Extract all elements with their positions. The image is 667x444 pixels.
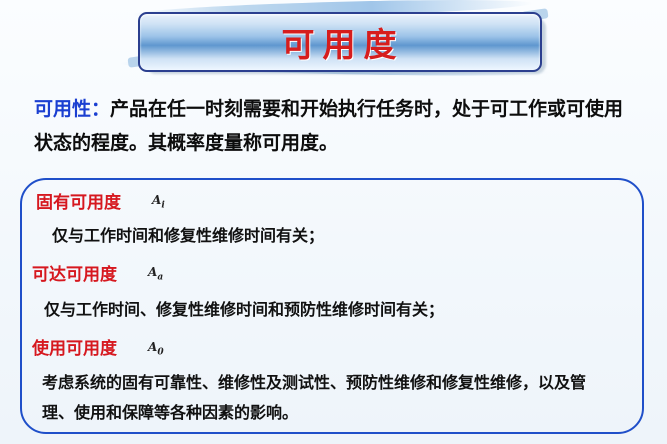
definition-colon: ： (91, 98, 110, 120)
item-2-symbol-letter: A (148, 265, 157, 279)
item-3-symbol-subscript: 0 (157, 347, 163, 357)
item-2-description: 仅与工作时间、修复性维修时间和预防性维修时间有关； (44, 296, 444, 320)
page-title: 可用度 (276, 18, 405, 66)
item-2-heading: 可达可用度 (32, 260, 117, 285)
slide-canvas: 可用度 可用性：产品在任一时刻需要和开始执行任务时，处于可工作或可使用状态的程度… (0, 0, 667, 444)
item-3-description: 考虑系统的固有可靠性、维修性及测试性、预防性维修和修复性维修，以及管理、使用和保… (42, 368, 617, 428)
item-3-heading: 使用可用度 (32, 334, 117, 359)
item-1-symbol-subscript: i (161, 200, 164, 210)
item-3-symbol: A0 (148, 340, 164, 357)
definition-text: 产品在任一时刻需要和开始执行任务时，处于可工作或可使用状态的程度。其概率度量称可… (34, 98, 623, 154)
definition-term: 可用性 (34, 98, 91, 120)
title-banner: 可用度 (138, 8, 546, 78)
title-plate: 可用度 (138, 12, 542, 72)
item-1-symbol: Ai (152, 193, 165, 210)
item-2-symbol-subscript: a (157, 272, 163, 282)
item-1-heading: 固有可用度 (36, 188, 121, 213)
item-1-description: 仅与工作时间和修复性维修时间有关； (52, 222, 324, 246)
definition-paragraph: 可用性：产品在任一时刻需要和开始执行任务时，处于可工作或可使用状态的程度。其概率… (34, 92, 634, 160)
item-2-symbol: Aa (148, 265, 163, 282)
item-3-symbol-letter: A (148, 340, 157, 354)
item-1-symbol-letter: A (152, 193, 161, 207)
